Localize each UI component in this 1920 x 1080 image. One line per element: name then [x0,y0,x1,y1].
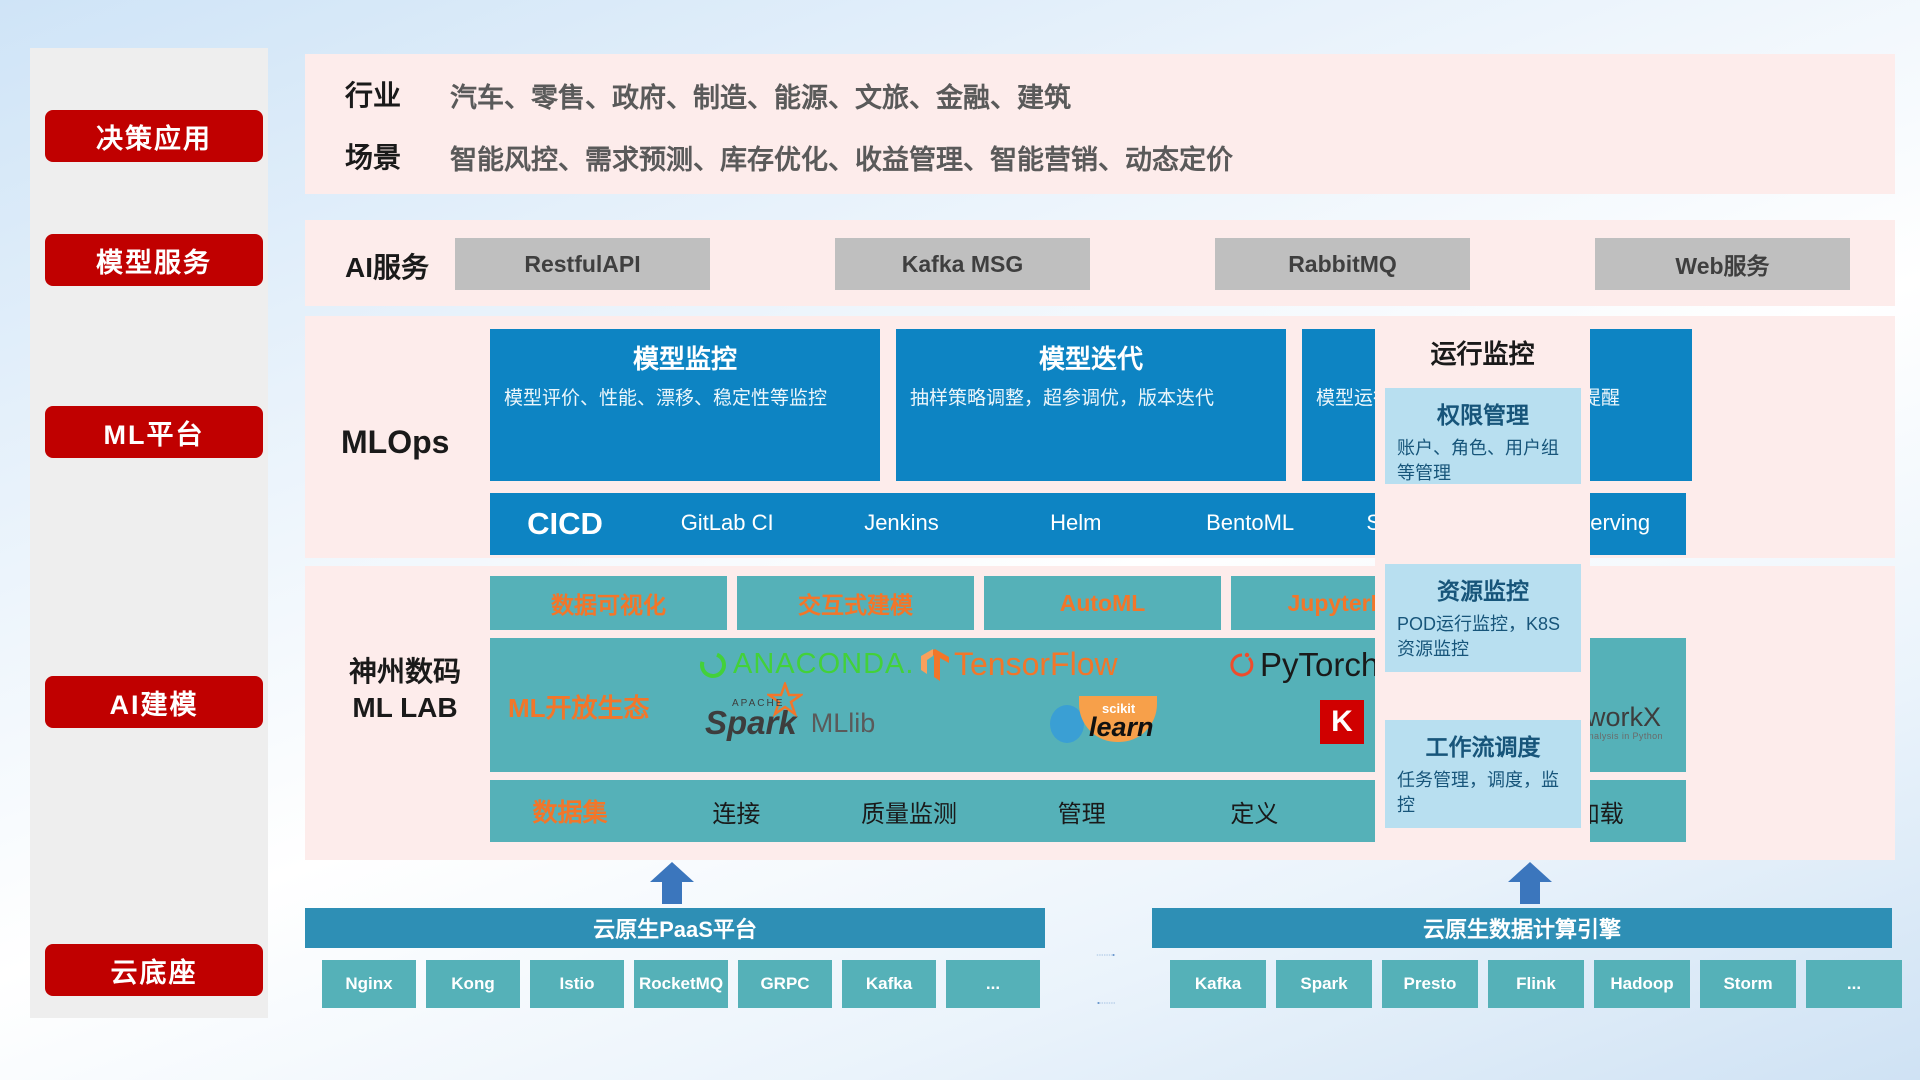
pytorch-logo: PyTorch [1228,646,1379,684]
ml-lab-band: 神州数码 ML LAB 数据可视化 交互式建模 AutoML JupyterLa… [305,566,1895,860]
anaconda-mark-icon [698,650,728,680]
mlops-label: MLOps [341,424,449,461]
mlops-card-model-monitor[interactable]: 模型监控 模型评价、性能、漂移、稳定性等监控 [490,329,880,481]
dataset-item-connect[interactable]: 连接 [650,794,823,829]
cloud-paas-header: 云原生PaaS平台 [305,908,1045,948]
monitor-card-permission[interactable]: 权限管理 账户、角色、用户组等管理 [1385,388,1581,484]
card-title: 模型迭代 [910,339,1272,376]
cicd-item-helm[interactable]: Helm [989,493,1163,539]
dataset-title: 数据集 [490,793,650,829]
cicd-item-gitlab-ci[interactable]: GitLab CI [640,493,814,539]
paas-chip-row: Nginx Kong Istio RocketMQ GRPC Kafka ... [322,960,1040,1008]
mlops-band: MLOps 模型监控 模型评价、性能、漂移、稳定性等监控 模型迭代 抽样策略调整… [305,316,1895,558]
tensorflow-mark-icon [920,648,950,682]
chip-rocketmq[interactable]: RocketMQ [634,960,728,1008]
card-title: 模型监控 [504,339,866,376]
dataset-item-define[interactable]: 定义 [1168,794,1341,829]
data-engine-chip-row: Kafka Spark Presto Flink Hadoop Storm ..… [1170,960,1902,1008]
chip-storm[interactable]: Storm [1700,960,1796,1008]
tensorflow-logo: TensorFlow [920,646,1118,683]
scikit-learn-logo: scikit learn [1045,700,1095,744]
dataset-item-manage[interactable]: 管理 [995,794,1168,829]
chip-hadoop[interactable]: Hadoop [1594,960,1690,1008]
stage-label: AI建模 [110,683,199,722]
keras-mark-icon: K [1320,700,1364,744]
keras-k-glyph: K [1331,705,1353,739]
chip-istio[interactable]: Istio [530,960,624,1008]
spark-apache-text: APACHE [732,698,784,709]
dataset-item-quality-monitor[interactable]: 质量监测 [823,794,996,829]
stage-pill-ml-platform[interactable]: ML平台 [45,406,263,458]
service-box-rabbitmq[interactable]: RabbitMQ [1215,238,1470,290]
monitor-card-resource[interactable]: 资源监控 POD运行监控，K8S资源监控 [1385,564,1581,672]
card-desc: POD运行监控，K8S资源监控 [1397,612,1569,662]
dashed-arrow-right-icon [1060,954,1152,956]
pytorch-mark-icon [1228,649,1256,681]
up-arrow-paas-icon [650,862,694,904]
runtime-monitoring-column: 运行监控 权限管理 账户、角色、用户组等管理 资源监控 POD运行监控，K8S资… [1375,316,1590,860]
stage-label: 云底座 [111,951,198,990]
spark-mllib-logo: APACHE Spark MLlib [705,704,875,742]
applications-band: 行业 汽车、零售、政府、制造、能源、文旅、金融、建筑 场景 智能风控、需求预测、… [305,54,1895,194]
up-arrow-data-engine-icon [1508,862,1552,904]
card-desc: 账户、角色、用户组等管理 [1397,436,1569,486]
chip-kong[interactable]: Kong [426,960,520,1008]
ml-lab-label-line1: 神州数码 [325,654,485,690]
anaconda-logo: ANACONDA. [698,648,914,681]
card-desc: 任务管理，调度，监控 [1397,768,1569,818]
ml-lab-label-line2: ML LAB [325,690,485,726]
industry-label: 行业 [345,74,401,114]
dashed-arrow-left-icon [1060,1002,1152,1004]
card-title: 资源监控 [1397,572,1569,606]
cloud-data-engine-header: 云原生数据计算引擎 [1152,908,1892,948]
ml-lab-tools: 数据可视化 交互式建模 AutoML JupyterLab [490,576,1468,630]
ecosystem-label: ML开放生态 [508,688,650,725]
service-box-restfulapi[interactable]: RestfulAPI [455,238,710,290]
ai-services-list: RestfulAPI Kafka MSG RabbitMQ Web服务 [455,238,1870,290]
tool-box-automl[interactable]: AutoML [984,576,1221,630]
chip-kafka[interactable]: Kafka [842,960,936,1008]
chip-flink[interactable]: Flink [1488,960,1584,1008]
stage-pill-ai-modeling[interactable]: AI建模 [45,676,263,728]
scenario-list: 智能风控、需求预测、库存优化、收益管理、智能营销、动态定价 [450,138,1233,177]
tensorflow-wordmark: TensorFlow [954,646,1118,683]
ai-services-band: AI服务 RestfulAPI Kafka MSG RabbitMQ Web服务 [305,220,1895,306]
tool-box-data-visualization[interactable]: 数据可视化 [490,576,727,630]
stage-label: ML平台 [104,413,205,452]
stage-pill-model-service[interactable]: 模型服务 [45,234,263,286]
card-desc: 抽样策略调整，超参调优，版本迭代 [910,386,1272,412]
chip-more-paas[interactable]: ... [946,960,1040,1008]
ml-lab-label: 神州数码 ML LAB [325,654,485,727]
cicd-title: CICD [490,493,640,555]
stage-label: 模型服务 [96,241,212,280]
learn-wordmark: learn [1089,712,1154,743]
service-box-kafka-msg[interactable]: Kafka MSG [835,238,1090,290]
chip-kafka-data[interactable]: Kafka [1170,960,1266,1008]
scenario-label: 场景 [345,136,401,176]
stage-rail [30,48,268,1018]
tool-box-interactive-modeling[interactable]: 交互式建模 [737,576,974,630]
anaconda-wordmark: ANACONDA. [733,648,914,681]
stage-pill-decision-app[interactable]: 决策应用 [45,110,263,162]
industry-list: 汽车、零售、政府、制造、能源、文旅、金融、建筑 [450,76,1071,115]
ai-services-label: AI服务 [345,246,429,286]
card-title: 工作流调度 [1397,728,1569,762]
chip-more-data[interactable]: ... [1806,960,1902,1008]
monitor-card-workflow[interactable]: 工作流调度 任务管理，调度，监控 [1385,720,1581,828]
runtime-monitoring-title: 运行监控 [1375,334,1590,371]
card-title: 权限管理 [1397,396,1569,430]
cicd-item-bentoml[interactable]: BentoML [1163,493,1337,539]
mllib-wordmark: MLlib [811,708,876,739]
chip-grpc[interactable]: GRPC [738,960,832,1008]
mlops-card-model-iteration[interactable]: 模型迭代 抽样策略调整，超参调优，版本迭代 [896,329,1286,481]
service-box-web[interactable]: Web服务 [1595,238,1850,290]
chip-presto[interactable]: Presto [1382,960,1478,1008]
stage-label: 决策应用 [96,117,212,156]
card-desc: 模型评价、性能、漂移、稳定性等监控 [504,386,866,412]
cicd-item-jenkins[interactable]: Jenkins [814,493,988,539]
stage-pill-cloud-base[interactable]: 云底座 [45,944,263,996]
chip-nginx[interactable]: Nginx [322,960,416,1008]
chip-spark[interactable]: Spark [1276,960,1372,1008]
pytorch-wordmark: PyTorch [1260,646,1379,684]
